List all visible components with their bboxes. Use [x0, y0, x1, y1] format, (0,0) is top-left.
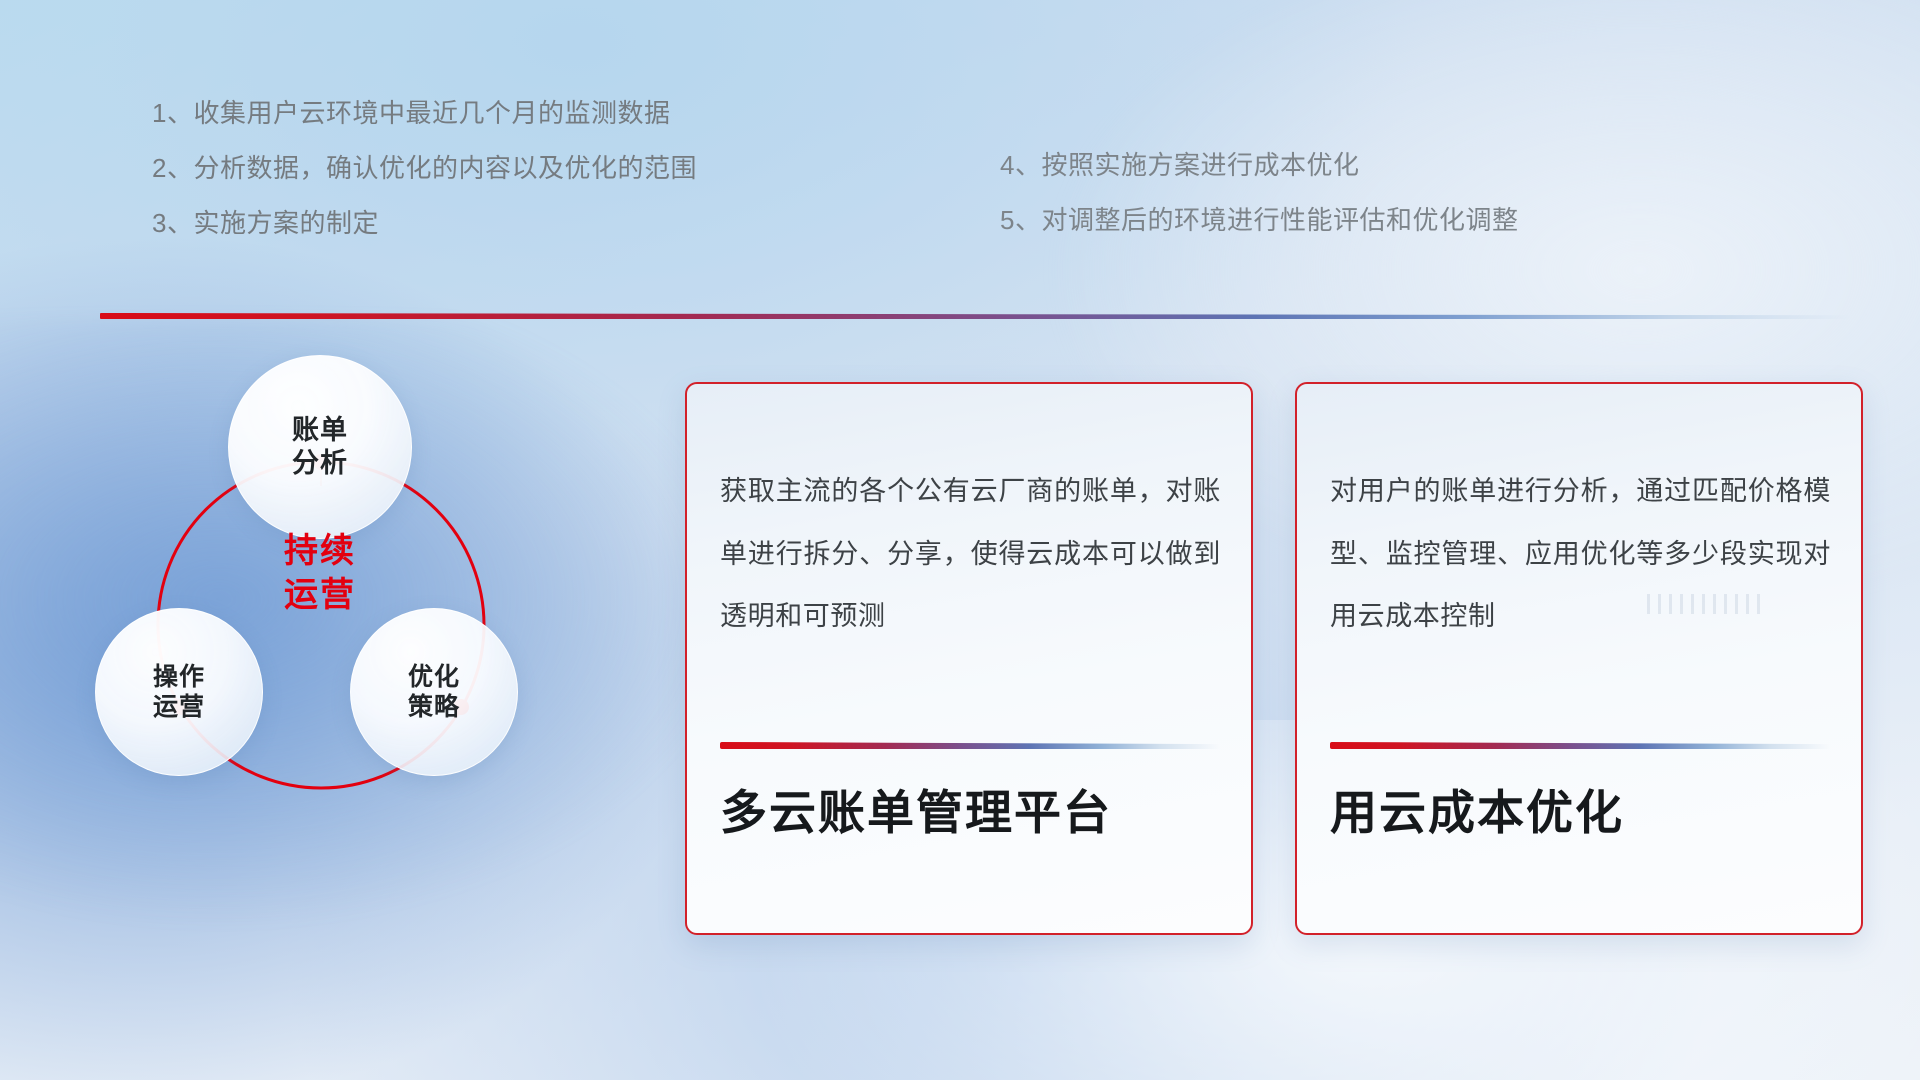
bubble-label-line2: 分析 [292, 447, 348, 480]
card-title: 多云账单管理平台 [720, 784, 1112, 843]
bubble-label-line1: 操作 [153, 662, 205, 693]
bubble-billing-analysis[interactable]: 账单 分析 [228, 355, 412, 539]
card-body-text: 对用户的账单进行分析，通过匹配价格模型、监控管理、应用优化等多少段实现对用云成本… [1330, 460, 1831, 648]
bubble-label-line1: 优化 [408, 662, 460, 693]
card-body-text: 获取主流的各个公有云厂商的账单，对账单进行拆分、分享，使得云成本可以做到透明和可… [720, 460, 1221, 648]
bullet-item: 1、收集用户云环境中最近几个月的监测数据 [152, 100, 697, 126]
bubble-label-line2: 运营 [153, 692, 205, 723]
bubble-optimization-strategy[interactable]: 优化 策略 [350, 608, 518, 776]
diagram-center-label: 持续 运营 [230, 530, 410, 617]
card-texture-speckle [1647, 594, 1767, 614]
card-accent-rule [1330, 742, 1830, 749]
bullet-item: 4、按照实施方案进行成本优化 [1000, 152, 1518, 178]
bullet-list-left: 1、收集用户云环境中最近几个月的监测数据 2、分析数据，确认优化的内容以及优化的… [152, 100, 697, 265]
card-title: 用云成本优化 [1330, 784, 1624, 843]
bullet-item: 3、实施方案的制定 [152, 210, 697, 236]
slide-canvas: 1、收集用户云环境中最近几个月的监测数据 2、分析数据，确认优化的内容以及优化的… [0, 0, 1920, 1080]
continuous-operations-diagram: 账单 分析 操作 运营 优化 策略 持续 运营 [95, 355, 595, 825]
bullet-item: 5、对调整后的环境进行性能评估和优化调整 [1000, 207, 1518, 233]
center-label-line2: 运营 [230, 574, 410, 618]
bubble-label-line1: 账单 [292, 414, 348, 447]
bubble-operations[interactable]: 操作 运营 [95, 608, 263, 776]
center-label-line1: 持续 [230, 530, 410, 574]
feature-card-multicloud-billing[interactable]: 获取主流的各个公有云厂商的账单，对账单进行拆分、分享，使得云成本可以做到透明和可… [685, 382, 1253, 935]
bubble-label-line2: 策略 [408, 692, 460, 723]
bullet-list-right: 4、按照实施方案进行成本优化 5、对调整后的环境进行性能评估和优化调整 [1000, 152, 1518, 262]
card-accent-rule [720, 742, 1220, 749]
bullet-item: 2、分析数据，确认优化的内容以及优化的范围 [152, 155, 697, 181]
feature-card-cost-optimization[interactable]: 对用户的账单进行分析，通过匹配价格模型、监控管理、应用优化等多少段实现对用云成本… [1295, 382, 1863, 935]
